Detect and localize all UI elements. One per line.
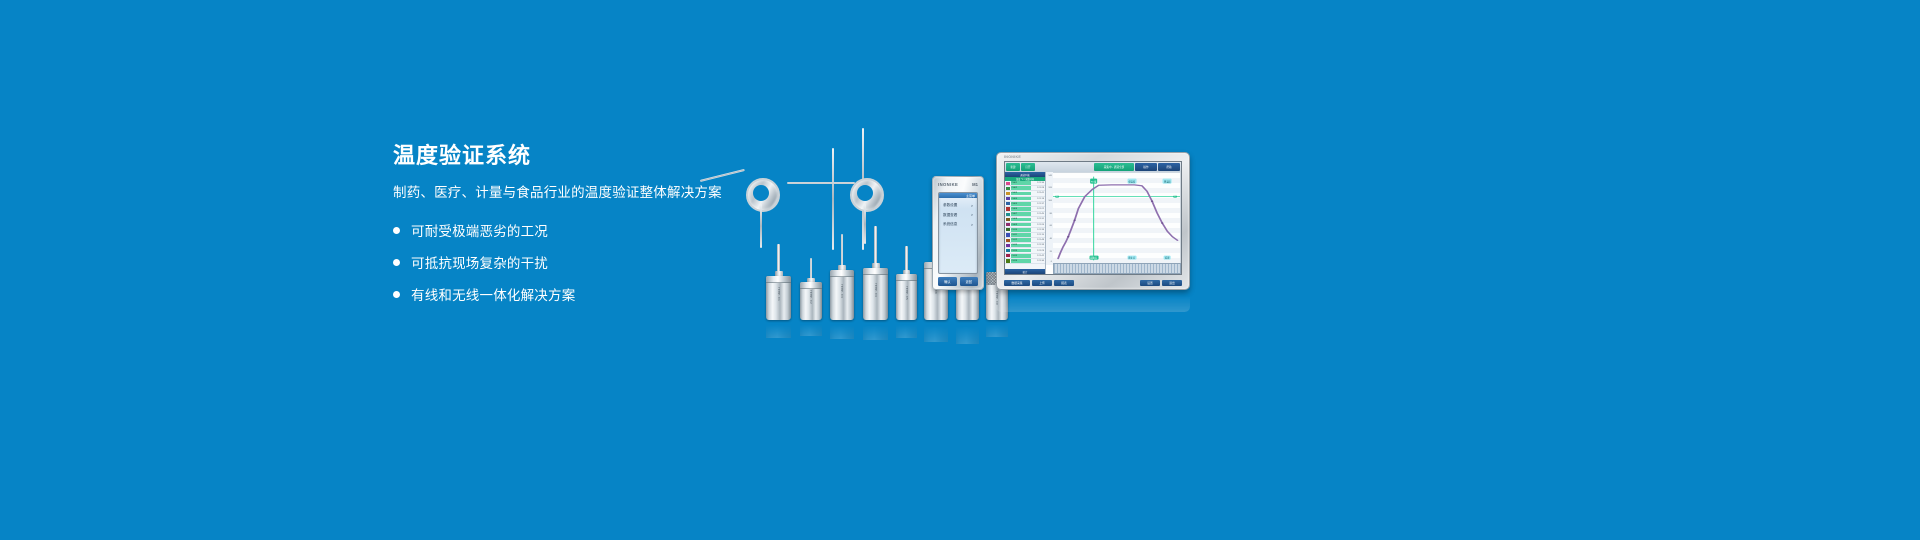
logger-body: TEMP-02	[800, 282, 822, 320]
channel-value: 121.19	[1031, 198, 1045, 200]
chart-marker-stop[interactable]: 终止点	[1127, 255, 1136, 260]
series-color-swatch	[1006, 192, 1010, 195]
software-toolbar: 新建 打开 采集中 - 通道全部 操作 帮助	[1005, 162, 1181, 172]
series-color-swatch	[1006, 202, 1010, 205]
product-scene: TEMP-01 TEMP-02 TEMP-03	[700, 120, 1220, 320]
handheld-reader[interactable]: INONIKE M1 主菜单 参数设置 > 数据查看 >	[932, 176, 984, 290]
logger-reflection	[924, 320, 948, 342]
series-color-swatch	[1006, 228, 1010, 231]
data-logger[interactable]: TEMP-03	[830, 234, 854, 320]
logger-label: TEMP-03	[840, 284, 844, 298]
chart-marker-hold[interactable]: 保温段	[1127, 179, 1136, 184]
channel-value: 121.37	[1031, 203, 1045, 205]
data-logger[interactable]: TEMP-04	[863, 226, 888, 320]
y-tick-label: 20	[1050, 251, 1052, 253]
bullet-dot-icon	[393, 259, 400, 266]
channel-name: CH16	[1011, 259, 1032, 263]
logger-body: TEMP-03	[830, 270, 854, 320]
toolbar-operations-button[interactable]: 操作	[1135, 163, 1157, 171]
series-color-swatch	[1006, 244, 1010, 247]
y-tick-label: 120	[1048, 187, 1052, 189]
temperature-chart: 140 120 100 80 60 40 20 0	[1046, 172, 1181, 274]
footer-exit-button[interactable]: 退出	[1162, 280, 1182, 286]
handheld-menu: 参数设置 > 数据查看 > 系统信息 >	[939, 198, 977, 227]
channel-name: CH05	[1011, 202, 1032, 206]
series-color-swatch	[1006, 187, 1010, 190]
series-color-swatch	[1006, 218, 1010, 221]
series-color-swatch	[1006, 223, 1010, 226]
channel-value: 121.39	[1031, 229, 1045, 231]
toolbar-open-button[interactable]: 打开	[1021, 163, 1035, 171]
channel-value: 121.48	[1031, 239, 1045, 241]
logger-reflection	[863, 320, 888, 340]
channel-value: 121.41	[1031, 192, 1045, 194]
handheld-buttons: 确认 返回	[938, 277, 978, 286]
channel-name: CH04	[1011, 197, 1032, 201]
chart-x-axis-scrollbar[interactable]	[1053, 263, 1181, 274]
data-logger[interactable]: TEMP-01	[766, 244, 791, 320]
logger-cap	[800, 282, 822, 289]
channel-name: CH02	[1011, 186, 1032, 190]
logger-cap	[830, 270, 854, 277]
series-color-swatch	[1006, 249, 1010, 252]
bullet-dot-icon	[393, 227, 400, 234]
feature-label: 可抵抗现场复杂的干扰	[411, 252, 548, 272]
logger-body: TEMP-01	[766, 276, 791, 320]
menu-item-label: 系统信息	[943, 222, 957, 227]
channel-name: CH09	[1011, 223, 1032, 227]
logger-body: TEMP-04	[863, 268, 888, 320]
data-logger[interactable]: TEMP-05	[896, 246, 917, 320]
channel-value: 121.29	[1031, 250, 1045, 252]
menu-item[interactable]: 系统信息 >	[943, 222, 973, 227]
logger-body: TEMP-05	[896, 274, 917, 320]
toolbar-new-button[interactable]: 新建	[1006, 163, 1020, 171]
coiled-probe-left	[720, 178, 790, 218]
monitor-screen: 新建 打开 采集中 - 通道全部 操作 帮助 通道列表 温度 ℃ /	[1004, 161, 1182, 275]
feature-label: 有线和无线一体化解决方案	[411, 284, 575, 304]
menu-item-label: 参数设置	[943, 203, 957, 208]
channel-value: 121.22	[1031, 208, 1045, 210]
series-color-swatch	[1006, 197, 1010, 200]
chart-series-svg	[1053, 173, 1180, 264]
channel-sidebar: 通道列表 温度 ℃ / 采集时间 CH01121.34 CH02121.28 C…	[1005, 172, 1046, 274]
channel-list[interactable]: CH01121.34 CH02121.28 CH03121.41 CH04121…	[1005, 181, 1045, 269]
channel-name: CH08	[1011, 218, 1032, 222]
y-tick-label: 100	[1048, 200, 1052, 202]
software-main: 通道列表 温度 ℃ / 采集时间 CH01121.34 CH02121.28 C…	[1005, 172, 1181, 274]
channel-name: CH14	[1011, 249, 1032, 253]
y-tick-label: 60	[1050, 225, 1052, 227]
logger-cap	[863, 268, 888, 275]
footer-report-button[interactable]: 报表	[1054, 280, 1074, 286]
logger-cap	[766, 276, 791, 283]
channel-value: 121.33	[1031, 244, 1045, 246]
series-color-swatch	[1006, 259, 1010, 262]
sidebar-footer[interactable]: 统计	[1005, 269, 1045, 274]
series-color-swatch	[1006, 233, 1010, 236]
y-tick-label: 0	[1051, 261, 1052, 263]
series-color-swatch	[1006, 207, 1010, 210]
logger-reflection	[766, 320, 791, 338]
footer-settings-button[interactable]: 设置	[1140, 280, 1160, 286]
handheld-screen: 主菜单 参数设置 > 数据查看 > 系统信息 >	[938, 192, 978, 274]
logger-reflection	[986, 320, 1008, 337]
monitor-reflection	[996, 290, 1190, 312]
y-tick-label: 40	[1050, 238, 1052, 240]
logger-reflection	[956, 320, 979, 344]
channel-name: CH03	[1011, 192, 1032, 196]
logger-reflection	[830, 320, 854, 339]
menu-item[interactable]: 参数设置 >	[943, 203, 973, 208]
hero-banner: 温度验证系统 制药、医疗、计量与食品行业的温度验证整体解决方案 可耐受极端恶劣的…	[0, 0, 1920, 540]
channel-value: 121.42	[1031, 255, 1045, 257]
channel-value: 121.28	[1031, 187, 1045, 189]
toolbar-help-button[interactable]: 帮助	[1158, 163, 1180, 171]
menu-item-chevron-icon: >	[971, 223, 973, 227]
menu-item-chevron-icon: >	[971, 213, 973, 217]
probe-stem	[874, 226, 877, 268]
logger-reflection	[896, 320, 917, 338]
channel-value: 121.36	[1031, 260, 1045, 262]
channel-name: CH13	[1011, 244, 1032, 248]
channel-value: 121.15	[1031, 234, 1045, 236]
menu-item[interactable]: 数据查看 >	[943, 213, 973, 218]
channel-name: CH01	[1011, 181, 1032, 185]
y-tick-label: 140	[1048, 175, 1052, 177]
chart-marker-f0[interactable]: F0 值	[1090, 179, 1098, 184]
logger-label: TEMP-04	[874, 283, 878, 297]
chart-marker-a[interactable]: A	[1055, 195, 1059, 198]
bullet-dot-icon	[393, 291, 400, 298]
handheld-screen-title: 主菜单	[966, 194, 975, 198]
channel-name: CH12	[1011, 238, 1032, 242]
channel-name: CH11	[1011, 233, 1032, 237]
footer-upload-button[interactable]: 上传	[1032, 280, 1052, 286]
chart-marker-cool[interactable]: 降温段	[1163, 179, 1172, 184]
data-logger[interactable]: TEMP-02	[800, 256, 822, 320]
channel-value: 121.26	[1031, 224, 1045, 226]
handheld-branding: INONIKE M1	[938, 182, 978, 187]
monitor: INONIKE 新建 打开 采集中 - 通道全部 操作 帮助	[996, 152, 1190, 290]
y-tick-label: 80	[1050, 213, 1052, 215]
series-color-swatch	[1006, 213, 1010, 216]
channel-value: 121.31	[1031, 218, 1045, 220]
chart-marker-start[interactable]: 起始点	[1089, 255, 1098, 260]
monitor-brand-label: INONIKE	[1004, 155, 1021, 159]
channel-name: CH10	[1011, 228, 1032, 232]
channel-value: 121.34	[1031, 182, 1045, 184]
chart-marker-b[interactable]: B	[1173, 195, 1177, 198]
back-button[interactable]: 返回	[960, 277, 979, 286]
model-label: M1	[972, 182, 978, 187]
logger-label: TEMP-02	[809, 290, 813, 304]
coiled-probe-right	[850, 178, 920, 218]
toolbar-spacer	[1036, 163, 1093, 171]
chart-plot-area: F0 值 起始点 A B 保温段 降温段 终止点 结束	[1053, 172, 1181, 265]
footer-acquire-button[interactable]: 数据采集	[1004, 280, 1030, 286]
logger-cap	[896, 274, 917, 281]
logger-label: TEMP-08	[995, 291, 999, 305]
channel-name: CH07	[1011, 212, 1032, 216]
channel-name: CH06	[1011, 207, 1032, 211]
toolbar-left-group: 新建 打开	[1006, 163, 1035, 171]
channel-value: 121.45	[1031, 213, 1045, 215]
logger-label: TEMP-05	[905, 286, 909, 300]
menu-item-label: 数据查看	[943, 213, 957, 218]
toolbar-status-label: 采集中 - 通道全部	[1094, 163, 1134, 171]
brand-label: INONIKE	[938, 182, 958, 187]
logger-reflection	[800, 320, 822, 336]
table-row[interactable]: CH16121.36	[1005, 259, 1045, 264]
validation-software: 新建 打开 采集中 - 通道全部 操作 帮助 通道列表 温度 ℃ /	[1005, 162, 1181, 274]
menu-item-chevron-icon: >	[971, 204, 973, 208]
channel-name: CH15	[1011, 254, 1032, 258]
monitor-footer-toolbar: 数据采集 上传 报表 设置 退出	[1004, 278, 1182, 287]
series-color-swatch	[1006, 182, 1010, 185]
chart-marker-end[interactable]: 结束	[1164, 255, 1171, 260]
series-color-swatch	[1006, 254, 1010, 257]
confirm-button[interactable]: 确认	[938, 277, 957, 286]
logger-label: TEMP-01	[777, 287, 781, 301]
series-color-swatch	[1006, 239, 1010, 242]
feature-label: 可耐受极端恶劣的工况	[411, 220, 548, 240]
